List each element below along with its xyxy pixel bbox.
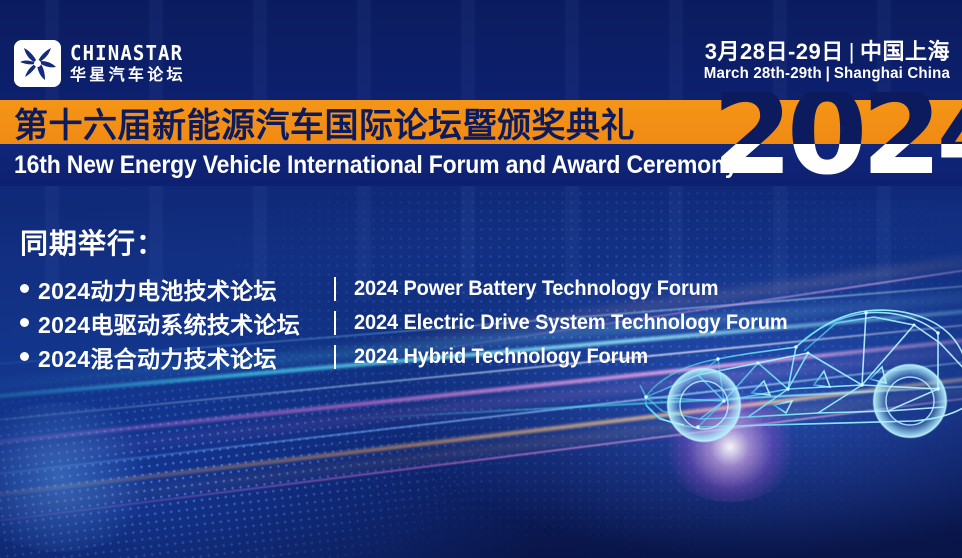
concurrent-events-heading: 同期举行： bbox=[20, 222, 810, 262]
forum-name-cn: 2024电驱动系统技术论坛 bbox=[38, 306, 334, 340]
main-title-en: 16th New Energy Vehicle International Fo… bbox=[14, 144, 738, 186]
event-date-location: 3月28日-29日|中国上海 March 28th-29th|Shanghai … bbox=[688, 40, 950, 83]
year-2024-text-white: 2024 bbox=[712, 144, 962, 192]
year-2024-lower-half: 2024 bbox=[712, 144, 962, 192]
date-separator-cn: | bbox=[844, 39, 860, 64]
brand-name-en: CHINASTAR bbox=[70, 43, 183, 63]
year-2024-upper-half: 2024 bbox=[712, 92, 962, 144]
brand-logo[interactable]: CHINASTAR 华星汽车论坛 bbox=[14, 40, 189, 87]
event-banner: CHINASTAR 华星汽车论坛 3月28日-29日|中国上海 March 28… bbox=[0, 0, 962, 558]
concurrent-events-section: 同期举行： 2024动力电池技术论坛 2024 Power Battery Te… bbox=[20, 222, 810, 375]
forum-name-cn: 2024混合动力技术论坛 bbox=[38, 340, 334, 374]
forum-name-cn: 2024动力电池技术论坛 bbox=[38, 272, 334, 306]
forum-name-en: 2024 Electric Drive System Technology Fo… bbox=[354, 311, 788, 335]
brand-logo-text: CHINASTAR 华星汽车论坛 bbox=[70, 43, 189, 84]
list-item[interactable]: 2024混合动力技术论坛 2024 Hybrid Technology Foru… bbox=[20, 341, 810, 372]
date-separator-en: | bbox=[822, 65, 834, 82]
forum-list: 2024动力电池技术论坛 2024 Power Battery Technolo… bbox=[20, 273, 810, 372]
bullet-icon bbox=[20, 318, 29, 327]
year-2024-text-navy: 2024 bbox=[712, 92, 962, 144]
event-place-en: Shanghai China bbox=[834, 65, 950, 82]
main-title-cn: 第十六届新能源汽车国际论坛暨颁奖典礼 bbox=[14, 100, 635, 144]
forum-separator bbox=[334, 277, 336, 301]
list-item[interactable]: 2024电驱动系统技术论坛 2024 Electric Drive System… bbox=[20, 307, 810, 338]
chinastar-emblem-icon bbox=[14, 40, 61, 87]
bullet-icon bbox=[20, 284, 29, 293]
event-place-cn: 中国上海 bbox=[860, 39, 950, 64]
forum-name-en: 2024 Hybrid Technology Forum bbox=[354, 345, 648, 369]
brand-name-cn: 华星汽车论坛 bbox=[70, 68, 189, 84]
event-date-cn-date: 3月28日-29日 bbox=[705, 39, 844, 64]
forum-separator bbox=[334, 345, 336, 369]
forum-name-en: 2024 Power Battery Technology Forum bbox=[354, 277, 718, 301]
event-date-en: March 28th-29th|Shanghai China bbox=[704, 65, 950, 83]
event-date-en-date: March 28th-29th bbox=[704, 65, 822, 82]
title-accent-triangle bbox=[726, 148, 740, 168]
bullet-icon bbox=[20, 352, 29, 361]
event-date-cn: 3月28日-29日|中国上海 bbox=[688, 40, 950, 65]
list-item[interactable]: 2024动力电池技术论坛 2024 Power Battery Technolo… bbox=[20, 273, 810, 304]
forum-separator bbox=[334, 311, 336, 335]
year-2024: 2024 2024 bbox=[712, 92, 962, 192]
